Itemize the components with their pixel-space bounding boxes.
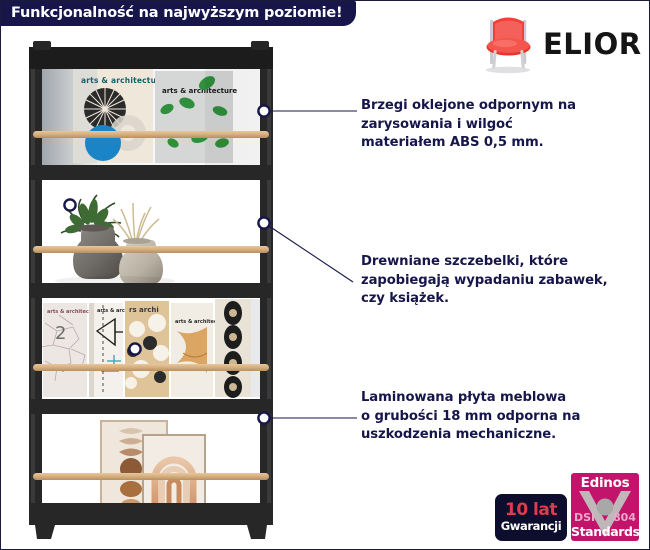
edinos-number-label: 804 (613, 511, 636, 524)
product-image-bookshelf: arts & architecture arts (15, 31, 287, 539)
edinos-standards-badge: Edinos DSI 804 Standards (571, 473, 639, 541)
warranty-badge: 10 lat Gwarancji (495, 494, 567, 541)
callout-text-abs-edging: Brzegi oklejone odpornym na zarysowania … (361, 97, 576, 153)
badge-group: 10 lat Gwarancji Edinos DSI 804 Standard… (495, 473, 639, 541)
svg-text:rs archi: rs archi (129, 306, 159, 314)
svg-text:arts & architecture: arts & architecture (81, 76, 165, 85)
warranty-sub-label: Gwarancji (501, 521, 562, 533)
brand-logo: ELIOR (481, 13, 641, 75)
page-title: Funkcjonalność na najwyższym poziomie! (1, 1, 356, 26)
callout-text-laminated-board: Laminowana płyta meblowa o grubości 18 m… (361, 389, 580, 445)
edinos-title: Edinos (571, 475, 639, 491)
brand-name: ELIOR (543, 30, 642, 59)
edinos-dsi-label: DSI (574, 511, 595, 524)
warranty-years: 10 lat (505, 502, 557, 519)
promo-banner-page: Funkcjonalność na najwyższym poziomie! (0, 0, 650, 550)
edinos-standards-label: Standards (571, 524, 639, 539)
svg-text:2: 2 (55, 323, 66, 344)
callout-text-wooden-rails: Drewniane szczebelki, które zapobiegają … (361, 253, 608, 309)
red-chair-icon (481, 14, 537, 74)
